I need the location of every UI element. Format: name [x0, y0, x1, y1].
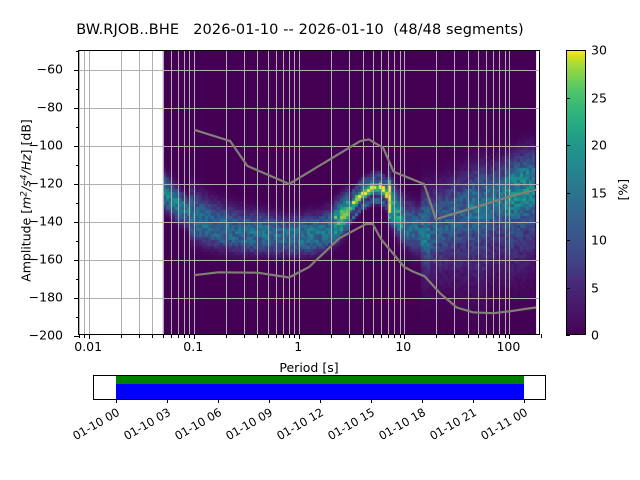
x-tick — [79, 334, 80, 338]
grid-line-vertical — [171, 51, 172, 334]
timeline-data-bar — [116, 384, 524, 399]
timeline-tick-label: 01-10 00 — [63, 405, 122, 447]
grid-line-vertical — [400, 51, 401, 334]
grid-line-vertical — [493, 51, 494, 334]
colorbar-tick-label: 25 — [591, 90, 607, 105]
y-tick — [74, 336, 79, 337]
x-tick — [363, 334, 364, 338]
grid-line-vertical — [276, 51, 277, 334]
timeline-tick — [320, 399, 321, 403]
y-tick — [74, 108, 79, 109]
grid-line-vertical — [163, 51, 164, 334]
grid-line-vertical — [194, 51, 195, 334]
timeline-tick-label: 01-10 18 — [369, 405, 428, 447]
x-tick — [226, 334, 227, 338]
y-axis-title-exp2: 2 — [19, 191, 29, 197]
grid-line-vertical — [454, 51, 455, 334]
grid-line-vertical — [79, 51, 80, 334]
timeline-tick-label: 01-11 00 — [471, 405, 530, 447]
grid-line-vertical — [509, 51, 510, 334]
x-tick — [505, 334, 506, 338]
y-tick-label: −180 — [29, 290, 72, 305]
grid-line-vertical — [331, 51, 332, 334]
y-axis-title-suffix: ] [dB] — [19, 119, 34, 154]
timeline-tick — [116, 399, 117, 403]
x-tick — [381, 334, 382, 338]
x-tick — [486, 334, 487, 338]
y-axis-title-hz: /Hz — [19, 154, 34, 174]
grid-line-vertical — [283, 51, 284, 334]
x-tick — [294, 334, 295, 338]
grid-line-vertical — [468, 51, 469, 334]
x-tick-label: 100 — [496, 339, 520, 354]
y-axis-title-m: m — [19, 197, 34, 209]
colorbar-tick — [566, 288, 570, 289]
ppsd-axes — [78, 50, 540, 335]
colorbar-tick — [566, 240, 570, 241]
timeline-tick-label: 01-10 06 — [165, 405, 224, 447]
x-tick — [436, 334, 437, 338]
x-tick — [152, 334, 153, 338]
grid-line-horizontal — [79, 70, 539, 71]
timeline-tick — [524, 399, 525, 403]
grid-line-vertical — [436, 51, 437, 334]
timeline-tick-label: 01-10 03 — [114, 405, 173, 447]
x-tick — [189, 334, 190, 338]
grid-line-horizontal — [79, 184, 539, 185]
grid-line-vertical — [388, 51, 389, 334]
x-tick-label: 1 — [294, 339, 302, 354]
y-tick — [76, 165, 80, 166]
grid-line-vertical — [226, 51, 227, 334]
grid-line-horizontal — [79, 260, 539, 261]
y-tick — [76, 89, 80, 90]
grid-line-vertical — [84, 51, 85, 334]
colorbar-tick — [566, 193, 570, 194]
plot-title: BW.RJOB..BHE 2026-01-10 -- 2026-01-10 (4… — [0, 22, 600, 38]
grid-line-horizontal — [79, 298, 539, 299]
x-tick — [400, 334, 401, 338]
ppsd-plot-figure: BW.RJOB..BHE 2026-01-10 -- 2026-01-10 (4… — [0, 0, 640, 480]
timeline-tick-label: 01-10 09 — [216, 405, 275, 447]
y-tick — [76, 127, 80, 128]
y-tick — [76, 279, 80, 280]
y-tick — [74, 146, 79, 147]
colorbar-tick-label: 30 — [591, 43, 607, 58]
y-axis-tick-labels: −60−80−100−120−140−160−180−200 — [0, 50, 72, 335]
grid-line-vertical — [294, 51, 295, 334]
x-tick-label: 0.01 — [74, 339, 102, 354]
y-tick — [74, 222, 79, 223]
colorbar-tick — [566, 335, 570, 336]
grid-line-vertical — [299, 51, 300, 334]
x-tick — [171, 334, 172, 338]
grid-line-vertical — [499, 51, 500, 334]
x-tick — [331, 334, 332, 338]
x-tick — [121, 334, 122, 338]
x-tick — [244, 334, 245, 338]
timeline-tick — [371, 399, 372, 403]
timeline-tick — [422, 399, 423, 403]
x-tick — [349, 334, 350, 338]
grid-line-horizontal — [79, 222, 539, 223]
y-axis-title-s: /s — [19, 180, 34, 191]
x-tick — [283, 334, 284, 338]
y-tick-label: −80 — [37, 100, 72, 115]
timeline-tick-label: 01-10 15 — [318, 405, 377, 447]
x-tick — [139, 334, 140, 338]
grid-line-vertical — [184, 51, 185, 334]
y-tick-label: −160 — [29, 252, 72, 267]
x-tick — [499, 334, 500, 338]
grid-line-vertical — [363, 51, 364, 334]
x-tick — [454, 334, 455, 338]
grid-line-horizontal — [79, 108, 539, 109]
grid-line-vertical — [189, 51, 190, 334]
y-tick-label: −200 — [29, 328, 72, 343]
grid-line-vertical — [257, 51, 258, 334]
timeline-tick-label: 01-10 21 — [420, 405, 479, 447]
grid-line-vertical — [268, 51, 269, 334]
grid-line-vertical — [394, 51, 395, 334]
x-tick-label: 0.1 — [183, 339, 203, 354]
x-tick — [289, 334, 290, 338]
x-tick — [493, 334, 494, 338]
y-axis-title: Amplitude [m2/s4/Hz] [dB] — [19, 71, 34, 331]
x-tick — [178, 334, 179, 338]
grid-line-vertical — [381, 51, 382, 334]
ppsd-density-canvas — [79, 51, 539, 334]
x-tick — [84, 334, 85, 338]
x-tick — [478, 334, 479, 338]
grid-line-vertical — [152, 51, 153, 334]
x-tick-label: 10 — [395, 339, 411, 354]
grid-line-vertical — [505, 51, 506, 334]
timeline-tick — [167, 399, 168, 403]
grid-line-vertical — [404, 51, 405, 334]
x-tick — [276, 334, 277, 338]
colorbar-tick-label: 15 — [591, 185, 607, 200]
ppsd-plot-area — [79, 51, 539, 334]
grid-line-vertical — [139, 51, 140, 334]
timeline-axes — [93, 375, 546, 400]
colorbar-tick-label: 0 — [591, 328, 599, 343]
x-tick — [468, 334, 469, 338]
x-tick — [388, 334, 389, 338]
grid-line-vertical — [89, 51, 90, 334]
y-tick-label: −100 — [29, 138, 72, 153]
y-tick — [76, 203, 80, 204]
grid-line-vertical — [349, 51, 350, 334]
y-tick-label: −60 — [37, 62, 72, 77]
grid-line-vertical — [478, 51, 479, 334]
timeline-tick-label: 01-10 12 — [267, 405, 326, 447]
x-tick — [394, 334, 395, 338]
grid-line-vertical — [244, 51, 245, 334]
x-tick — [257, 334, 258, 338]
colorbar-tick — [566, 50, 570, 51]
y-tick — [74, 298, 79, 299]
colorbar-tick — [566, 98, 570, 99]
y-tick — [76, 51, 80, 52]
timeline-coverage-bar — [116, 376, 524, 384]
colorbar-tick-label: 10 — [591, 233, 607, 248]
grid-line-vertical — [373, 51, 374, 334]
grid-line-vertical — [289, 51, 290, 334]
timeline-tick — [269, 399, 270, 403]
grid-line-horizontal — [79, 146, 539, 147]
colorbar-tick-label: 20 — [591, 138, 607, 153]
x-axis-title: Period [s] — [78, 360, 540, 375]
y-tick — [76, 241, 80, 242]
y-tick-label: −140 — [29, 214, 72, 229]
grid-line-vertical — [121, 51, 122, 334]
grid-line-vertical — [178, 51, 179, 334]
y-tick — [74, 260, 79, 261]
colorbar-tick — [566, 145, 570, 146]
y-tick — [74, 70, 79, 71]
colorbar-title: [%] — [615, 179, 630, 201]
colorbar-tick-label: 5 — [591, 280, 599, 295]
timeline-tick — [473, 399, 474, 403]
x-tick — [163, 334, 164, 338]
x-tick — [373, 334, 374, 338]
grid-line-vertical — [486, 51, 487, 334]
y-axis-title-prefix: Amplitude [ — [19, 209, 34, 282]
x-tick — [268, 334, 269, 338]
y-tick — [74, 184, 79, 185]
y-tick-label: −120 — [29, 176, 72, 191]
x-tick — [184, 334, 185, 338]
y-axis-title-exp4: 4 — [19, 175, 29, 181]
x-tick — [541, 334, 542, 338]
y-tick — [76, 317, 80, 318]
timeline-tick — [218, 399, 219, 403]
